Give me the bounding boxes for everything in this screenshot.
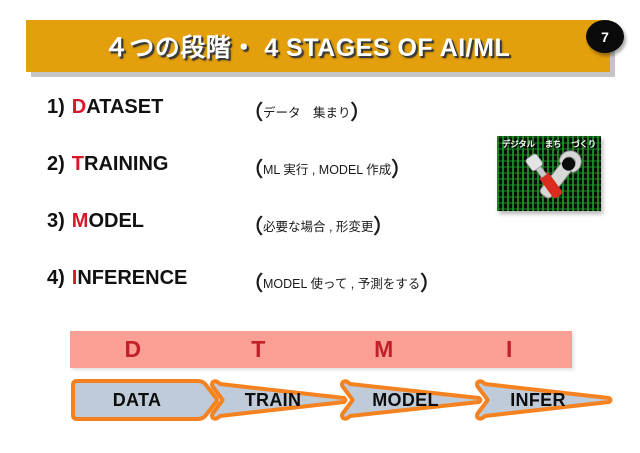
stage-name: DATASET — [72, 96, 163, 119]
stage-initial-letter: T — [72, 153, 84, 175]
slide-number-label: 7 — [601, 29, 609, 45]
stage-note: （MODEL 使って , 予測をする） — [233, 267, 440, 296]
paren-open: （ — [243, 102, 263, 124]
list-item: 3) MODEL （必要な場合 , 形変更） — [47, 210, 497, 267]
stage-note-text: 必要な場合 , 形変更 — [263, 220, 373, 234]
flow-step-label: INFER — [510, 390, 580, 411]
flow-step-data: DATA — [70, 378, 220, 422]
stage-name-rest: NFERENCE — [77, 267, 187, 289]
stage-number: 1) — [47, 96, 65, 119]
stage-name: INFERENCE — [72, 267, 188, 290]
stage-note: （必要な場合 , 形変更） — [233, 210, 393, 239]
paren-close: ） — [420, 273, 440, 295]
paren-open: （ — [243, 216, 263, 238]
paren-close: ） — [373, 216, 393, 238]
stage-note: （データ 集まり） — [233, 96, 371, 125]
paren-close: ） — [351, 102, 371, 124]
list-item: 1) DATASET （データ 集まり） — [47, 96, 497, 153]
tools-icon — [497, 136, 601, 211]
stage-name-rest: RAINING — [84, 153, 168, 175]
initial-letter-d: D — [70, 331, 196, 368]
slide-number-badge: 7 — [586, 20, 624, 53]
slide-title-banner: ４つの段階・ 4 STAGES OF AI/ML — [26, 20, 610, 72]
flow-step-label: TRAIN — [245, 390, 316, 411]
stage-note-text: データ 集まり — [263, 106, 351, 120]
stage-note-text: MODEL 使って , 予測をする — [263, 277, 420, 291]
initial-letter-t: T — [196, 331, 322, 368]
initial-letter-i: I — [447, 331, 573, 368]
flow-step-train: TRAIN — [210, 378, 350, 422]
paren-open: （ — [243, 273, 263, 295]
flow-step-infer: INFER — [475, 378, 615, 422]
flow-step-model: MODEL — [340, 378, 485, 422]
stage-name: TRAINING — [72, 153, 169, 176]
flow-step-label: MODEL — [372, 390, 453, 411]
pipeline-flow: DATA TRAIN MODEL INFER — [70, 378, 580, 422]
stage-initials-bar: D T M I — [70, 331, 572, 368]
stage-name: MODEL — [72, 210, 144, 233]
paren-close: ） — [391, 159, 411, 181]
initial-letter-m: M — [321, 331, 447, 368]
stage-number: 4) — [47, 267, 65, 290]
page-title: ４つの段階・ 4 STAGES OF AI/ML — [26, 20, 588, 72]
stage-initial-letter: M — [72, 210, 89, 232]
list-item: 2) TRAINING （ML 実行 , MODEL 作成） — [47, 153, 497, 210]
stage-initial-letter: D — [72, 96, 86, 118]
flow-step-label: DATA — [113, 390, 178, 411]
list-item: 4) INFERENCE （MODEL 使って , 予測をする） — [47, 267, 497, 324]
stage-note-text: ML 実行 , MODEL 作成 — [263, 163, 391, 177]
paren-open: （ — [243, 159, 263, 181]
stage-number: 3) — [47, 210, 65, 233]
stage-number: 2) — [47, 153, 65, 176]
stage-name-rest: ATASET — [86, 96, 163, 118]
stage-list: 1) DATASET （データ 集まり） 2) TRAINING （ML 実行 … — [47, 96, 497, 324]
stage-note: （ML 実行 , MODEL 作成） — [233, 153, 411, 182]
digital-town-thumbnail: デジタル まち づくり — [497, 136, 601, 211]
stage-name-rest: ODEL — [88, 210, 144, 232]
